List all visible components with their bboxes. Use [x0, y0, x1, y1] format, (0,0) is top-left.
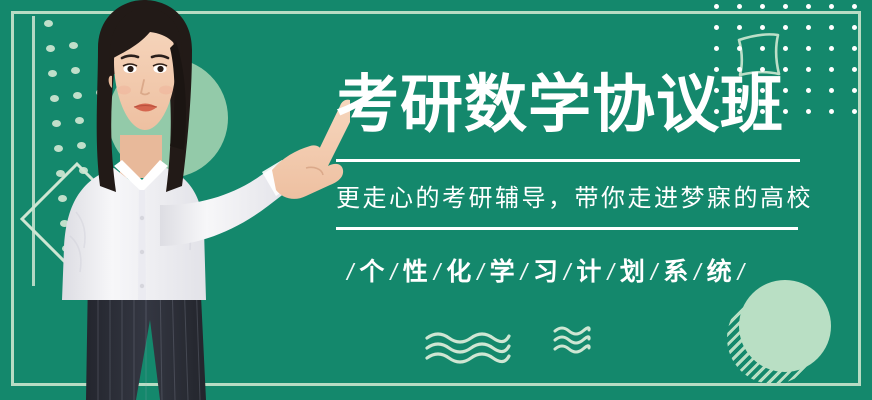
grid-dot: [737, 4, 742, 9]
grid-dot: [852, 67, 857, 72]
wave-doodle-large-icon: [424, 330, 512, 364]
tagline-char-6: 划: [619, 252, 648, 288]
tagline-char-7: 系: [662, 252, 691, 288]
presenter-photo: [10, 0, 350, 400]
grid-dot: [737, 46, 742, 51]
tagline-separator: /: [431, 259, 445, 286]
tagline-char-4: 习: [532, 252, 561, 288]
tagline-separator: /: [735, 259, 749, 286]
tagline-separator: /: [387, 259, 401, 286]
grid-dot: [714, 46, 719, 51]
grid-dot: [852, 88, 857, 93]
grid-dot: [714, 25, 719, 30]
tagline-separator: /: [604, 259, 618, 286]
grid-dot: [760, 25, 765, 30]
grid-dot: [806, 46, 811, 51]
tagline-char-8: 统: [706, 252, 735, 288]
promo-banner: 考研数学协议班 更走心的考研辅导，带你走进梦寐的高校 /个/性/化/学/习/计/…: [0, 0, 872, 400]
grid-dot: [829, 67, 834, 72]
tagline-separator: /: [344, 259, 358, 286]
grid-dot: [737, 25, 742, 30]
tagline-char-2: 化: [445, 252, 474, 288]
grid-dot: [852, 109, 857, 114]
banner-headline: 考研数学协议班: [336, 74, 834, 137]
tagline-char-1: 性: [402, 252, 431, 288]
grid-dot: [714, 4, 719, 9]
grid-dot: [760, 46, 765, 51]
grid-dot: [852, 46, 857, 51]
tagline-separator: /: [518, 259, 532, 286]
solid-circle-decoration: [739, 280, 831, 372]
banner-text-block: 考研数学协议班 更走心的考研辅导，带你走进梦寐的高校 /个/性/化/学/习/计/…: [334, 74, 834, 288]
wave-doodle-small-icon: [552, 325, 592, 355]
grid-dot: [783, 25, 788, 30]
banner-tagline: /个/性/化/学/习/计/划/系/统/: [344, 252, 834, 288]
banner-subtitle: 更走心的考研辅导，带你走进梦寐的高校: [336, 178, 800, 213]
grid-dot: [783, 4, 788, 9]
grid-dot: [783, 46, 788, 51]
grid-dot: [829, 25, 834, 30]
tagline-separator: /: [561, 259, 575, 286]
grid-dot: [829, 46, 834, 51]
divider-top: [336, 159, 800, 162]
grid-dot: [852, 4, 857, 9]
tagline-separator: /: [691, 259, 705, 286]
divider-bottom: [336, 227, 798, 230]
grid-dot: [806, 67, 811, 72]
tagline-char-3: 学: [489, 252, 518, 288]
tagline-separator: /: [474, 259, 488, 286]
tagline-char-5: 计: [575, 252, 604, 288]
grid-dot: [806, 4, 811, 9]
tagline-separator: /: [648, 259, 662, 286]
grid-dot: [760, 4, 765, 9]
tagline-char-0: 个: [358, 252, 387, 288]
grid-dot: [829, 4, 834, 9]
grid-dot: [852, 25, 857, 30]
circle-stack-decoration: [727, 280, 847, 400]
grid-dot: [806, 25, 811, 30]
